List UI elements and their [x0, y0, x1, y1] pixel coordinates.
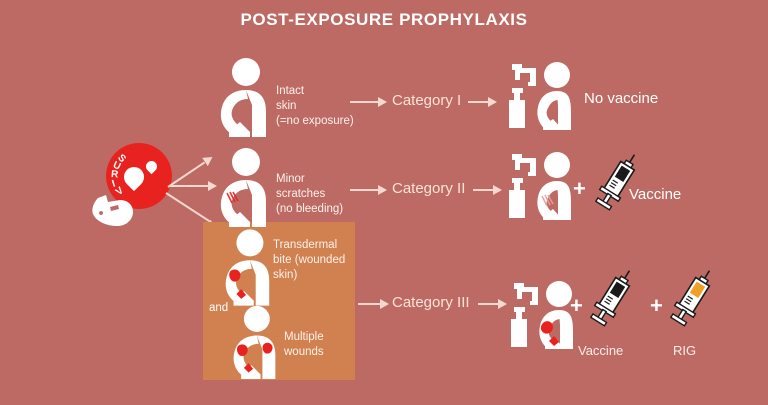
wash-hands-tap-soap-wound-icon: [505, 275, 573, 351]
arrow-head-row-2-treatment: [493, 185, 502, 195]
arrow-head-row-3-category: [380, 299, 389, 309]
category-3-label: Category III: [392, 294, 470, 311]
person-minor-scratches-icon: [216, 147, 272, 227]
category-2-exposure-label: Minor scratches (no bleeding): [276, 172, 376, 217]
category-1-label: Category I: [392, 92, 461, 109]
category-3-exposure-label-2: Multiple wounds: [284, 330, 360, 360]
dog-head-icon: [92, 193, 134, 227]
category-2-plus-1: +: [573, 178, 586, 200]
person-transdermal-bite-icon: [221, 228, 275, 306]
category-3-item-2-label: RIG: [673, 343, 696, 358]
arrow-to-category-2: [170, 185, 210, 187]
arrow-head-row-2-category: [378, 185, 387, 195]
arrow-row-2-to-category: [350, 189, 380, 191]
category-3-exposure-label-1: Transdermal bite (wounded skin): [273, 238, 359, 283]
arrow-row-3-to-treatment: [478, 303, 500, 305]
arrow-head-category-1: [202, 153, 215, 166]
page-title: POST-EXPOSURE PROPHYLAXIS: [0, 10, 768, 30]
virus-source-badge: VIRUS: [92, 143, 178, 229]
category-3-conjunction: and: [209, 302, 228, 314]
arrow-row-3-to-category: [358, 303, 382, 305]
category-1-outcome: No vaccine: [584, 90, 658, 107]
syringe-rig-icon: [670, 266, 716, 328]
category-2-label: Category II: [392, 180, 465, 197]
category-2-item-1-label: Vaccine: [629, 186, 681, 203]
wash-hands-tap-soap-icon: [503, 58, 571, 130]
arrow-row-1-to-treatment: [468, 101, 490, 103]
category-1-exposure-label: Intact skin (=no exposure): [276, 84, 368, 129]
category-3-item-1-label: Vaccine: [578, 343, 623, 358]
infographic-canvas: POST-EXPOSURE PROPHYLAXIS VIRUS Intact s…: [0, 0, 768, 405]
category-3-plus-2: +: [650, 295, 663, 317]
arrow-head-row-1-treatment: [488, 97, 497, 107]
arrow-head-row-1-category: [378, 97, 387, 107]
arrow-row-2-to-treatment: [473, 189, 495, 191]
wash-hands-tap-soap-icon: [503, 148, 571, 220]
syringe-icon: [590, 266, 636, 328]
person-intact-skin-icon: [216, 57, 272, 137]
category-3-plus-1: +: [570, 295, 583, 317]
person-multiple-wounds-icon: [228, 305, 282, 379]
arrow-row-1-to-category: [350, 101, 380, 103]
virus-label-letter: S: [115, 152, 128, 164]
